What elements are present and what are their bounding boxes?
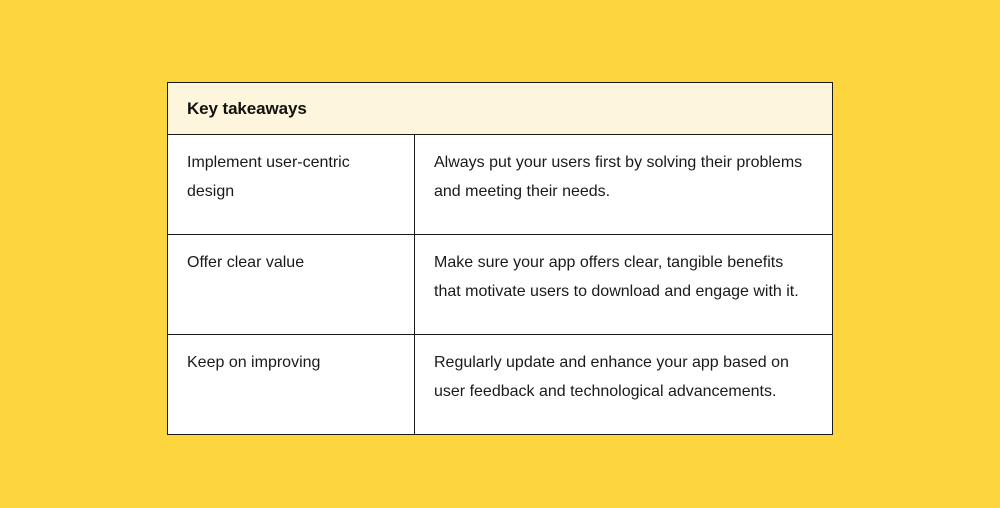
table-header: Key takeaways: [168, 83, 833, 135]
table-row: Keep on improving Regularly update and e…: [168, 335, 833, 435]
page-canvas: Key takeaways Implement user-centric des…: [0, 0, 1000, 508]
table-row: Implement user-centric design Always put…: [168, 135, 833, 235]
takeaway-description-label: Always put your users first by solving t…: [434, 148, 810, 206]
takeaway-description-cell: Always put your users first by solving t…: [415, 135, 833, 235]
takeaway-description-label: Regularly update and enhance your app ba…: [434, 348, 810, 406]
page-title: Key takeaways: [187, 98, 832, 120]
takeaway-term-cell: Offer clear value: [168, 235, 415, 335]
takeaway-term-cell: Implement user-centric design: [168, 135, 415, 235]
table-title-cell: Key takeaways: [168, 83, 833, 135]
takeaway-term-cell: Keep on improving: [168, 335, 415, 435]
takeaway-description-label: Make sure your app offers clear, tangibl…: [434, 248, 810, 306]
table-row: Offer clear value Make sure your app off…: [168, 235, 833, 335]
key-takeaways-table: Key takeaways Implement user-centric des…: [167, 82, 833, 435]
table-body: Implement user-centric design Always put…: [168, 135, 833, 435]
takeaway-term-label: Keep on improving: [187, 348, 392, 377]
takeaway-term-label: Offer clear value: [187, 248, 392, 277]
takeaway-term-label: Implement user-centric design: [187, 148, 392, 206]
takeaway-description-cell: Regularly update and enhance your app ba…: [415, 335, 833, 435]
takeaway-description-cell: Make sure your app offers clear, tangibl…: [415, 235, 833, 335]
table-header-row: Key takeaways: [168, 83, 833, 135]
